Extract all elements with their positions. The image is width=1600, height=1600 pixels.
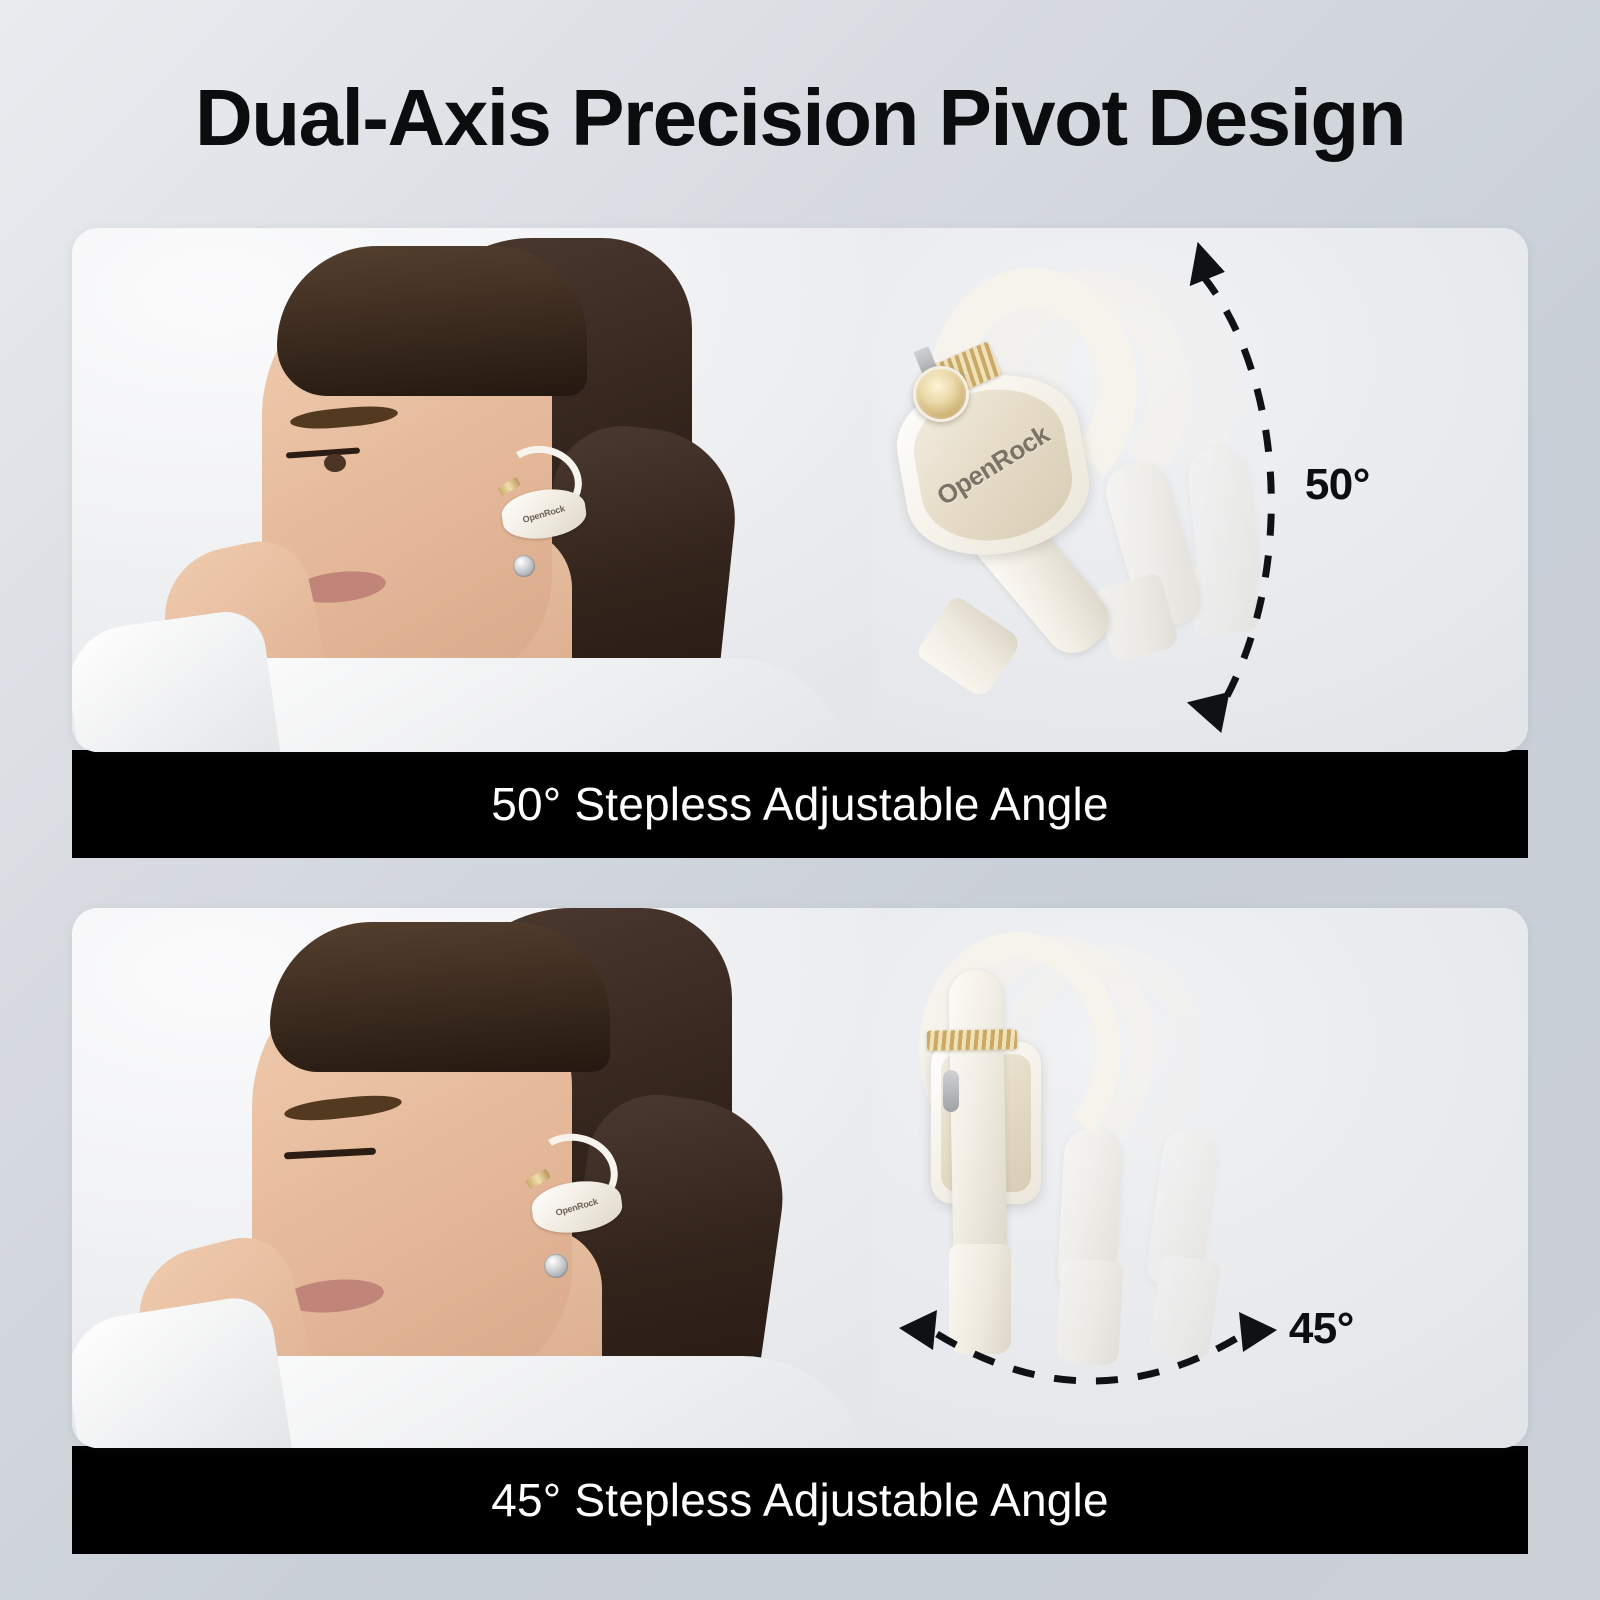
hair-top xyxy=(270,922,610,1072)
stem xyxy=(948,970,1007,1271)
iris xyxy=(324,454,346,472)
angle-annotation-50: 50° xyxy=(1165,236,1365,746)
panel-2-media-card: OpenRock xyxy=(72,908,1528,1448)
angle-label-45: 45° xyxy=(1289,1304,1354,1354)
earbud-logo: OpenRock xyxy=(522,503,566,525)
panel-2-caption-bar: 45° Stepless Adjustable Angle xyxy=(72,1446,1528,1554)
panel-1-lifestyle-photo: OpenRock xyxy=(72,228,873,752)
arrowhead-down-50 xyxy=(1187,692,1239,740)
sleeve xyxy=(72,1293,294,1448)
page-title: Dual-Axis Precision Pivot Design xyxy=(0,78,1600,158)
panel-1-caption-bar: 50° Stepless Adjustable Angle xyxy=(72,750,1528,858)
panel-1-product-render: OpenRock 50° xyxy=(873,228,1528,752)
model-illustration: OpenRock xyxy=(72,228,873,752)
angle-label-50: 50° xyxy=(1305,460,1370,510)
worn-earbud: OpenRock xyxy=(490,446,620,576)
hair-top xyxy=(277,246,587,396)
panel-1-caption-text: 50° Stepless Adjustable Angle xyxy=(491,777,1109,831)
pivot-disc xyxy=(913,366,969,422)
panel-2-lifestyle-photo: OpenRock xyxy=(72,908,873,1448)
tip xyxy=(915,594,1023,700)
earbud-logo: OpenRock xyxy=(555,1196,599,1218)
arrowhead-left-45 xyxy=(899,1310,937,1350)
arrowhead-up-50 xyxy=(1175,237,1224,286)
arc-path-50 xyxy=(1203,276,1271,696)
panel-2-product-render: 45° xyxy=(873,908,1528,1448)
pivot-tab xyxy=(943,1070,959,1112)
worn-earbud: OpenRock xyxy=(518,1134,658,1274)
product-logo: OpenRock xyxy=(931,418,1054,511)
pivot-ribs xyxy=(927,1029,1017,1051)
feature-panel-45deg: OpenRock xyxy=(72,908,1528,1554)
panel-2-caption-text: 45° Stepless Adjustable Angle xyxy=(491,1473,1109,1527)
sleeve xyxy=(72,607,282,752)
panel-1-media-card: OpenRock xyxy=(72,228,1528,752)
arc-path-45 xyxy=(937,1334,1237,1381)
angle-annotation-45: 45° xyxy=(889,1300,1349,1420)
model-illustration: OpenRock xyxy=(72,908,873,1448)
arrowhead-right-45 xyxy=(1239,1312,1277,1352)
feature-panel-50deg: OpenRock xyxy=(72,228,1528,858)
